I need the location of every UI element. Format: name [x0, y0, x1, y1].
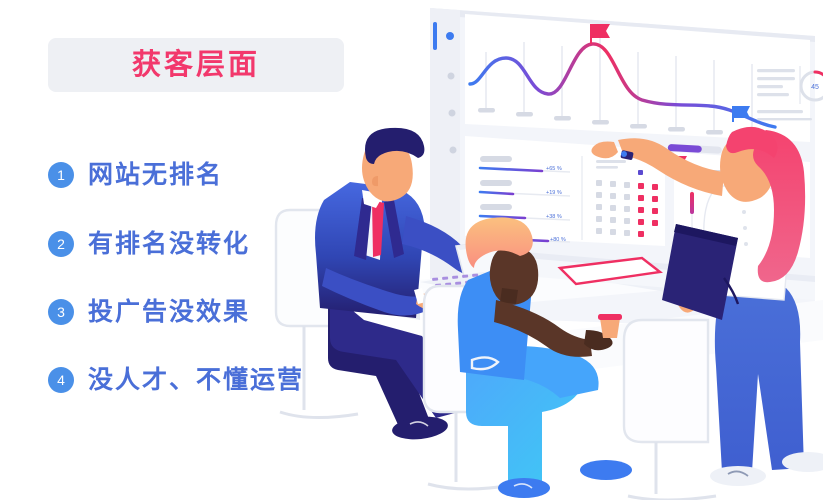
chair-right [624, 320, 716, 500]
sidebar-nav-dot[interactable] [449, 110, 456, 117]
page-title: 获客层面 [132, 51, 260, 80]
office-team-dashboard-illustration: 45 +65 % +19 % [270, 0, 823, 500]
list-item: 3 投广告没效果 [48, 292, 250, 332]
list-item-badge-3: 3 [48, 299, 74, 325]
list-item-badge-1: 1 [48, 162, 74, 188]
progress-value-4: +80 % [550, 237, 566, 243]
sidebar-nav-dot[interactable] [450, 147, 457, 154]
list-item-label-2: 有排名没转化 [88, 232, 250, 257]
progress-value-2: +19 % [546, 190, 562, 196]
list-item-label-3: 投广告没效果 [88, 300, 250, 325]
list-item: 4 没人才、不懂运营 [48, 360, 304, 400]
list-item-badge-2: 2 [48, 231, 74, 257]
list-item-label-1: 网站无排名 [88, 163, 223, 188]
sidebar-active-indicator [433, 22, 437, 50]
progress-value-3: +38 % [546, 214, 562, 220]
gauge-value: 45 [811, 84, 819, 91]
sidebar-nav-dot-active[interactable] [446, 32, 454, 40]
list-item: 2 有排名没转化 [48, 224, 250, 264]
sidebar-nav-dot[interactable] [448, 73, 455, 80]
list-item-badge-4: 4 [48, 367, 74, 393]
dashboard-sidebar[interactable] [430, 8, 460, 318]
list-item: 1 网站无排名 [48, 155, 223, 195]
progress-value-1: +65 % [546, 166, 562, 172]
